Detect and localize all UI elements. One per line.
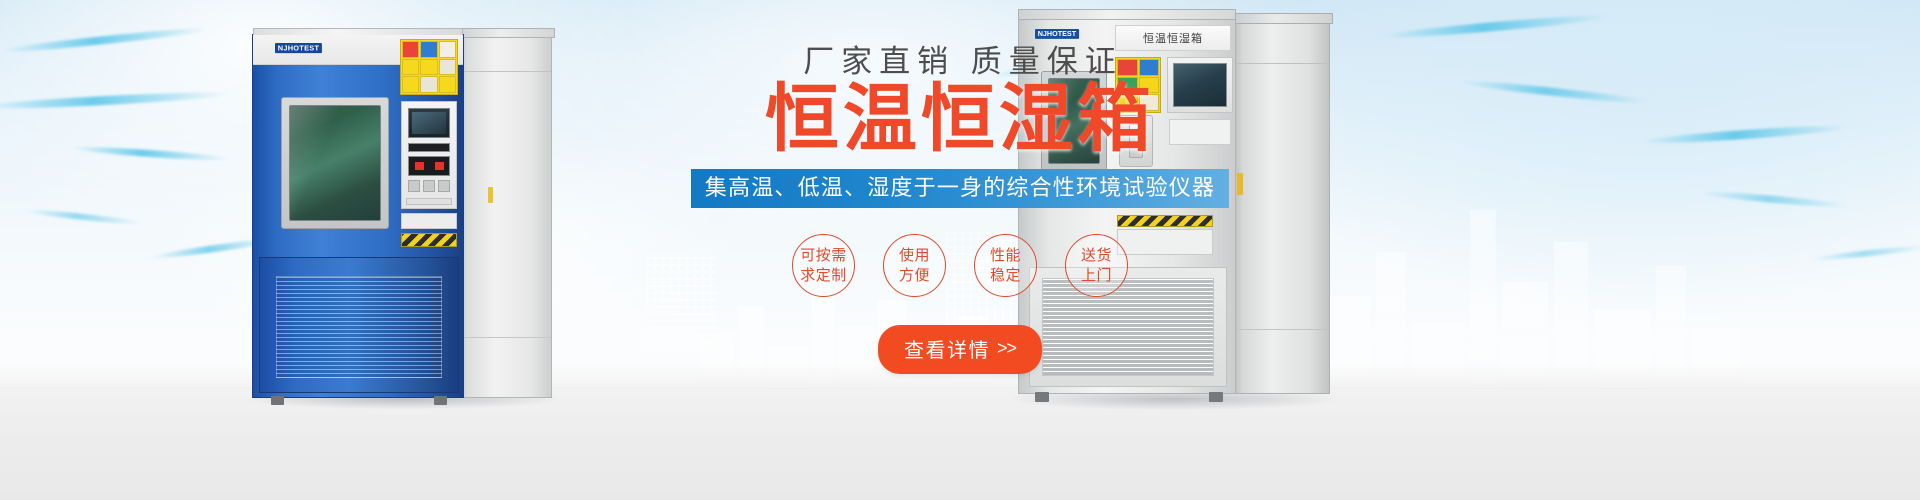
cloud-wisp-icon [0,36,210,44]
feature-badge-line1: 送货 [1081,246,1112,266]
cloud-wisp-icon [70,150,230,157]
led-readouts [408,156,450,176]
chamber-feet [267,396,451,405]
chamber-front-body: NJHOTEST [252,34,464,398]
cloud-wisp-icon [1380,22,1610,31]
banner-copy-block: 厂家直销 质量保证 恒温恒湿箱 集高温、低温、湿度于一身的综合性环境试验仪器 可… [660,46,1260,374]
panel-seam [458,337,551,338]
feature-badge-line1: 使用 [899,246,930,266]
chamber-top-cap [456,28,555,38]
brand-logo: NJHOTEST [275,43,322,53]
brand-logo: NJHOTEST [1035,29,1079,39]
chamber-lower-section [259,257,459,393]
chevron-right-double-icon: >> [997,338,1016,359]
feature-badge-stable[interactable]: 性能 稳定 [974,234,1037,297]
panel-seam [458,71,551,72]
chamber-side-panel [457,36,552,398]
warning-label-grid [400,39,458,95]
feature-badge-list: 可按需 求定制 使用 方便 性能 稳定 送货 上门 [660,234,1260,297]
chamber-door-window [281,97,389,229]
control-panel [401,101,457,209]
display-strip [408,143,450,152]
yellow-marker [488,187,493,203]
panel-nameplate [406,198,452,205]
product-nameplate-text: 恒温恒湿箱 [1143,30,1203,46]
spec-plate [401,213,457,229]
cta-row: 查看详情 >> [660,325,1260,374]
feature-badge-line2: 稳定 [990,266,1021,286]
view-details-button[interactable]: 查看详情 >> [878,325,1042,374]
window-glass [289,105,381,221]
cloud-wisp-icon [1700,196,1850,203]
lcd-display [408,108,450,138]
chamber-feet [1031,392,1227,402]
feature-badge-line1: 可按需 [800,246,847,266]
feature-badge-line2: 方便 [899,266,930,286]
hazard-stripe [401,233,457,247]
product-image-left: NJHOTEST bl [252,28,552,400]
control-buttons [408,180,450,192]
banner-eyebrow: 厂家直销 质量保证 [660,46,1260,79]
cloud-wisp-icon [1640,130,1850,139]
banner-headline: 恒温恒湿箱 [660,81,1260,158]
feature-badge-delivery[interactable]: 送货 上门 [1065,234,1128,297]
ventilation-grille [276,276,442,378]
cloud-wisp-icon [24,214,144,220]
feature-badge-line1: 性能 [990,246,1021,266]
promo-banner: NJHOTEST bl [0,0,1920,500]
banner-subtitle: 集高温、低温、湿度于一身的综合性环境试验仪器 [691,169,1229,209]
chamber-top-edge [1018,9,1236,20]
feature-badge-easy-use[interactable]: 使用 方便 [883,234,946,297]
chamber-top-cap [1229,13,1333,24]
feature-badge-line2: 上门 [1081,266,1112,286]
cloud-wisp-icon [1460,88,1650,96]
view-details-label: 查看详情 [904,334,990,363]
feature-badge-custom[interactable]: 可按需 求定制 [792,234,855,297]
cloud-wisp-icon [0,96,230,105]
feature-badge-line2: 求定制 [800,266,847,286]
cloud-wisp-icon [1810,250,1920,256]
city-skyline-silhouette [1330,192,1750,392]
